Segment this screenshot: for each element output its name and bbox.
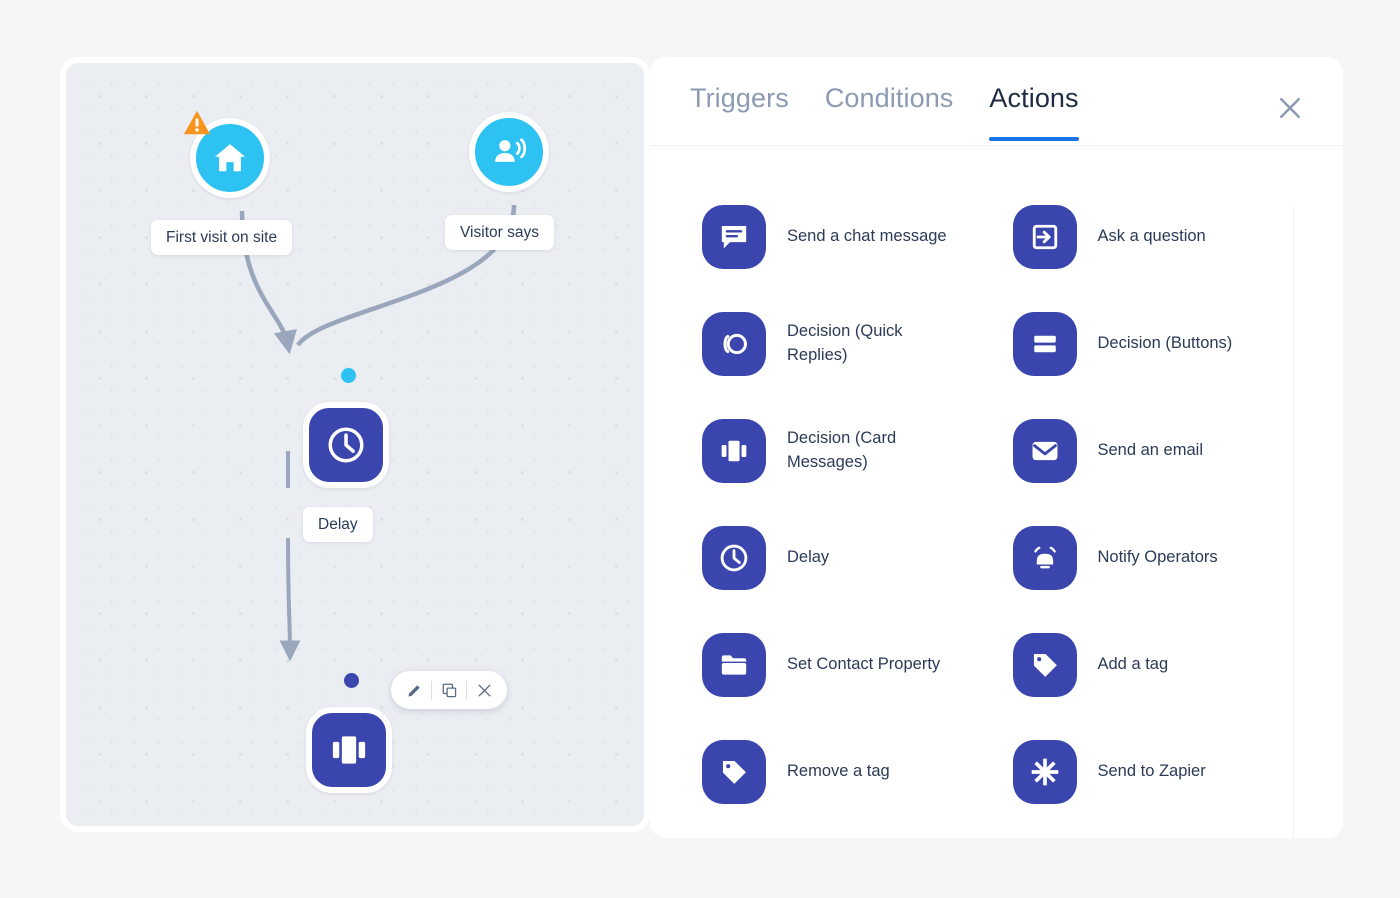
visitor-speaking-icon	[490, 133, 528, 171]
action-icon-wrap	[1013, 633, 1077, 697]
action-label: Send a chat message	[787, 225, 947, 249]
canvas-node-delay[interactable]	[303, 402, 389, 488]
duplicate-node-button[interactable]	[432, 671, 466, 709]
action-item-send-a-chat-message[interactable]: Send a chat message	[702, 183, 1013, 290]
chat-message-icon	[717, 220, 751, 254]
action-label: Remove a tag	[787, 760, 890, 784]
action-item-remove-a-tag[interactable]: Remove a tag	[702, 718, 1013, 825]
connector-dot-cyan[interactable]	[341, 368, 356, 383]
action-item-decision-buttons[interactable]: Decision (Buttons)	[1013, 290, 1324, 397]
action-label: Ask a question	[1098, 225, 1206, 249]
card-messages-icon	[327, 728, 371, 772]
action-label: Notify Operators	[1098, 546, 1218, 570]
action-label: Set Contact Property	[787, 653, 940, 677]
action-label: Delay	[787, 546, 829, 570]
tab-conditions-label: Conditions	[825, 83, 954, 113]
action-label: Send an email	[1098, 439, 1204, 463]
action-icon-wrap	[702, 205, 766, 269]
tab-triggers-label: Triggers	[690, 83, 789, 113]
action-icon-wrap	[1013, 205, 1077, 269]
quick-replies-icon	[717, 327, 751, 361]
canvas-node-label-delay: Delay	[303, 507, 373, 542]
zapier-asterisk-icon	[1028, 755, 1062, 789]
action-icon-wrap	[702, 633, 766, 697]
action-label: Decision (Quick Replies)	[787, 320, 962, 368]
panel-tab-bar: Triggers Conditions Actions	[650, 57, 1343, 145]
action-item-delay[interactable]: Delay	[702, 504, 1013, 611]
actions-panel: Triggers Conditions Actions	[650, 57, 1343, 838]
tab-actions-label: Actions	[989, 83, 1078, 113]
edit-icon	[406, 682, 423, 699]
app-root: First visit on site Visitor says Delay	[0, 0, 1400, 898]
folder-icon	[717, 648, 751, 682]
canvas-node-visitor-says[interactable]	[469, 112, 549, 192]
action-item-send-to-zapier[interactable]: Send to Zapier	[1013, 718, 1324, 825]
node-action-toolbar[interactable]	[391, 671, 507, 709]
action-label: Add a tag	[1098, 653, 1169, 677]
tab-conditions[interactable]: Conditions	[825, 83, 954, 120]
canvas-node-card-messages[interactable]	[306, 707, 392, 793]
bell-icon	[1028, 541, 1062, 575]
actions-column-divider	[1293, 207, 1294, 847]
action-icon-wrap	[1013, 740, 1077, 804]
action-icon-wrap	[702, 419, 766, 483]
connector-dot-indigo[interactable]	[344, 673, 359, 688]
canvas-node-label-visitor-says: Visitor says	[445, 215, 554, 250]
ask-question-icon	[1028, 220, 1062, 254]
action-icon-wrap	[1013, 419, 1077, 483]
action-item-set-contact-property[interactable]: Set Contact Property	[702, 611, 1013, 718]
action-icon-wrap	[702, 740, 766, 804]
panel-header-divider	[650, 145, 1343, 146]
action-item-add-a-tag[interactable]: Add a tag	[1013, 611, 1324, 718]
card-messages-icon	[717, 434, 751, 468]
duplicate-icon	[441, 682, 458, 699]
action-icon-wrap	[1013, 312, 1077, 376]
buttons-icon	[1028, 327, 1062, 361]
action-icon-wrap	[1013, 526, 1077, 590]
tag-icon	[717, 755, 751, 789]
action-item-decision-quick-replies[interactable]: Decision (Quick Replies)	[702, 290, 1013, 397]
action-label: Decision (Buttons)	[1098, 332, 1233, 356]
tab-actions[interactable]: Actions	[989, 83, 1078, 120]
action-item-send-an-email[interactable]: Send an email	[1013, 397, 1324, 504]
tab-triggers[interactable]: Triggers	[690, 83, 789, 120]
flow-canvas[interactable]: First visit on site Visitor says Delay	[60, 57, 650, 832]
action-icon-wrap	[702, 312, 766, 376]
warning-badge-icon	[182, 109, 212, 137]
action-label: Send to Zapier	[1098, 760, 1206, 784]
clock-icon	[717, 541, 751, 575]
tag-icon	[1028, 648, 1062, 682]
close-icon	[476, 682, 493, 699]
action-item-decision-card-messages[interactable]: Decision (Card Messages)	[702, 397, 1013, 504]
close-panel-button[interactable]	[1275, 93, 1305, 123]
tab-underline-active	[989, 137, 1078, 141]
close-icon	[1275, 93, 1305, 123]
envelope-icon	[1028, 434, 1062, 468]
delete-node-button[interactable]	[467, 671, 501, 709]
action-icon-wrap	[702, 526, 766, 590]
actions-grid: Send a chat message Ask a question	[650, 145, 1343, 825]
clock-icon	[324, 423, 368, 467]
home-icon	[211, 139, 249, 177]
action-item-notify-operators[interactable]: Notify Operators	[1013, 504, 1324, 611]
action-item-ask-a-question[interactable]: Ask a question	[1013, 183, 1324, 290]
action-label: Decision (Card Messages)	[787, 427, 962, 475]
canvas-node-label-first-visit: First visit on site	[151, 220, 292, 255]
edit-node-button[interactable]	[397, 671, 431, 709]
